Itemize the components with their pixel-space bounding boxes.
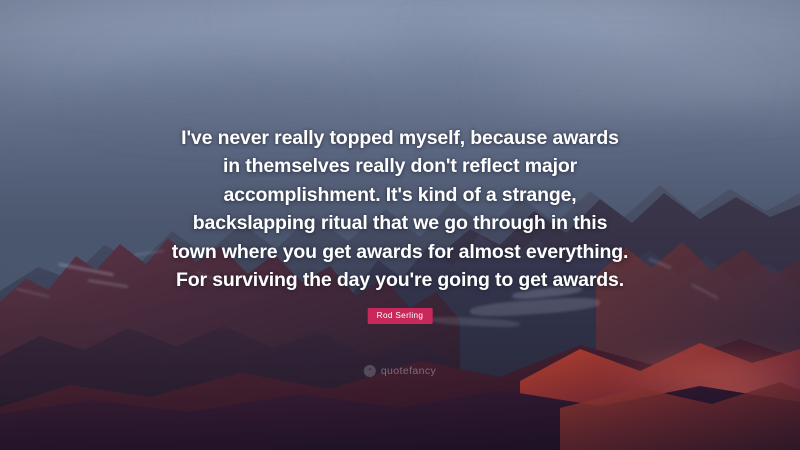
cloud-layer [0, 5, 432, 56]
quote-mark-logo-icon: “ [364, 365, 376, 377]
quote-line: accomplishment. It's kind of a strange, [100, 181, 700, 209]
watermark-brand-label: quotefancy [381, 365, 436, 377]
cloud-layer [16, 42, 576, 79]
cloud-layer [96, 75, 736, 108]
quote-mark-glyph: “ [368, 368, 371, 375]
cloud-layer [0, 94, 336, 122]
quote-line: I've never really topped myself, because… [100, 124, 700, 152]
quotefancy-watermark[interactable]: “ quotefancy [364, 365, 436, 377]
quote-line: in themselves really don't reflect major [100, 152, 700, 180]
quote-line: backslapping ritual that we go through i… [100, 209, 700, 237]
cloud-layer [440, 14, 800, 56]
quote-wallpaper: I've never really topped myself, because… [0, 0, 800, 450]
quote-text-block: I've never really topped myself, because… [0, 124, 800, 294]
quote-line: For surviving the day you're going to ge… [100, 266, 700, 294]
cloud-layer [496, 70, 800, 98]
cloud-layer [240, 0, 680, 37]
cloud-layer [384, 51, 800, 86]
author-name-badge[interactable]: Rod Serling [368, 308, 433, 324]
quote-line: town where you get awards for almost eve… [100, 238, 700, 266]
